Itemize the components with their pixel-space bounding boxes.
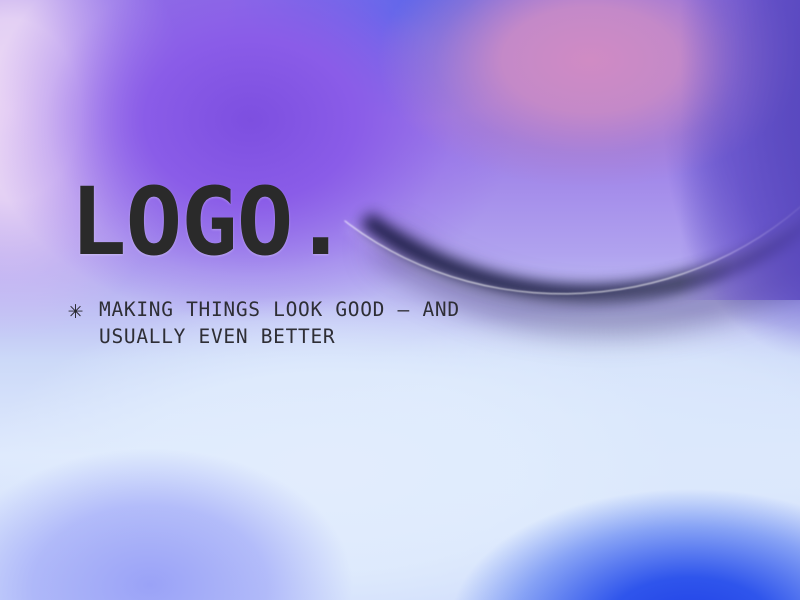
wordmark-logo: LOGO. [70, 176, 628, 270]
arc-fade-mask [680, 0, 800, 300]
tagline-text: MAKING THINGS LOOK GOOD — AND USUALLY EV… [99, 296, 460, 350]
text-block: LOGO. ✳ MAKING THINGS LOOK GOOD — AND US… [68, 176, 628, 350]
asterisk-bullet-icon: ✳ [68, 296, 99, 323]
tagline: ✳ MAKING THINGS LOOK GOOD — AND USUALLY … [68, 296, 628, 350]
title-slide: LOGO. ✳ MAKING THINGS LOOK GOOD — AND US… [0, 0, 800, 600]
